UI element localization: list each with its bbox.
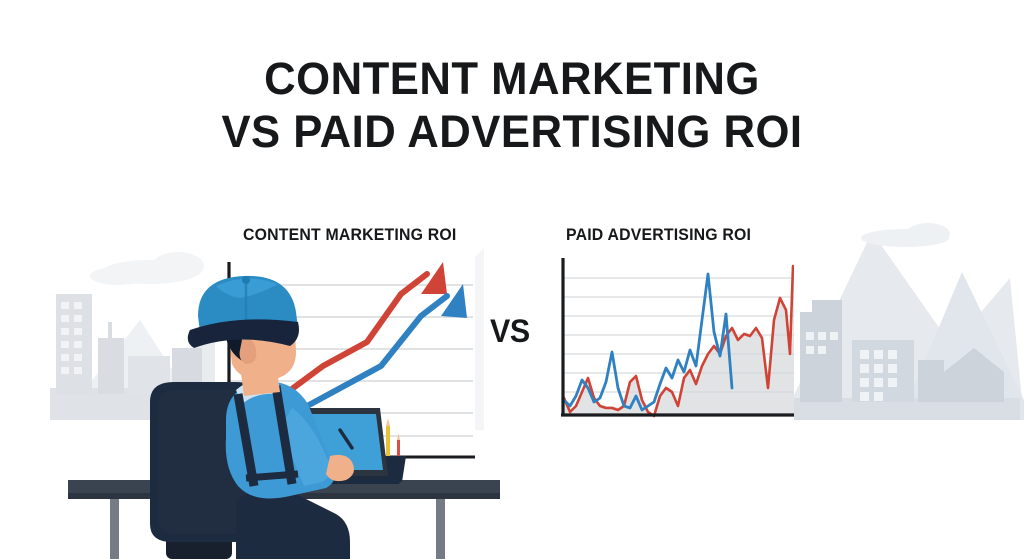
person-head	[188, 276, 299, 396]
left-chart-caption: CONTENT MARKETING ROI	[243, 226, 456, 245]
title-line-1: CONTENT MARKETING	[15, 52, 1008, 105]
page-title: CONTENT MARKETING VS PAID ADVERTISING RO…	[0, 52, 1024, 158]
person-at-desk-illustration	[40, 270, 500, 559]
infographic-canvas: CONTENT MARKETING VS PAID ADVERTISING RO…	[0, 0, 1024, 559]
title-line-2: VS PAID ADVERTISING ROI	[15, 105, 1008, 158]
person-body	[226, 378, 354, 559]
right-chart-panel	[548, 248, 794, 424]
right-chart-caption: PAID ADVERTISING ROI	[566, 226, 751, 245]
